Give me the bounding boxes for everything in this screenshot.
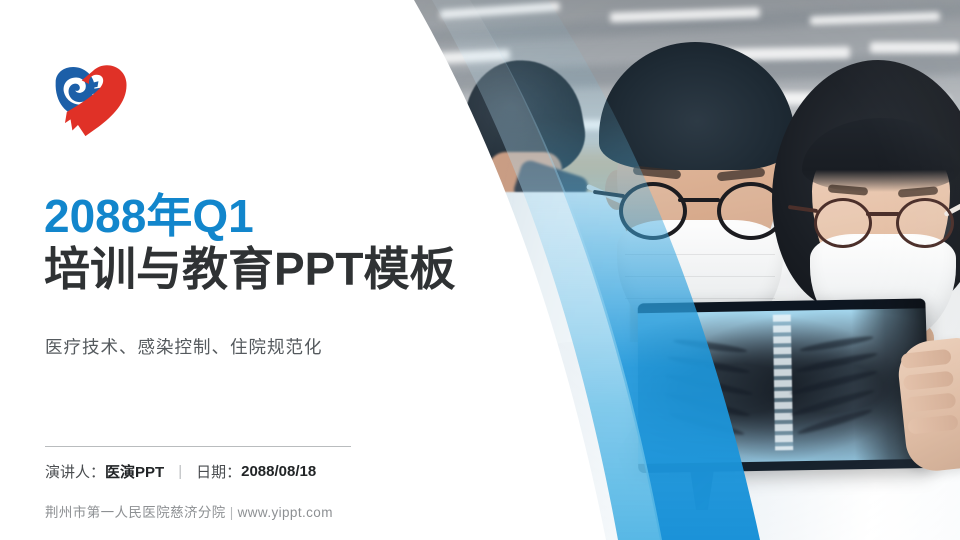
speaker-label: 演讲人： bbox=[45, 461, 105, 482]
footer-separator: | bbox=[230, 505, 234, 520]
title-line-2: 培训与教育PPT模板 bbox=[44, 242, 514, 296]
subtitle: 医疗技术、感染控制、住院规范化 bbox=[45, 334, 323, 359]
date-value: 2088/08/18 bbox=[241, 463, 316, 480]
speaker-value: 医演PPT bbox=[105, 461, 164, 482]
footer-organization: 荆州市第一人民医院慈济分院 bbox=[45, 505, 226, 520]
title-line-1: 2088年Q1 bbox=[44, 192, 514, 242]
presentation-cover-slide: 2088年Q1 培训与教育PPT模板 医疗技术、感染控制、住院规范化 演讲人：医… bbox=[0, 0, 960, 540]
hands-heart-logo bbox=[44, 58, 138, 138]
footer-website: www.yippt.com bbox=[238, 505, 333, 520]
divider-line bbox=[45, 446, 351, 447]
meta-separator: | bbox=[178, 463, 182, 480]
title-block: 2088年Q1 培训与教育PPT模板 bbox=[44, 192, 514, 296]
footer: 荆州市第一人民医院慈济分院|www.yippt.com bbox=[45, 501, 333, 521]
title-panel: 2088年Q1 培训与教育PPT模板 医疗技术、感染控制、住院规范化 演讲人：医… bbox=[0, 0, 420, 540]
date-label: 日期： bbox=[196, 461, 241, 482]
meta-row: 演讲人：医演PPT | 日期：2088/08/18 bbox=[45, 461, 316, 482]
